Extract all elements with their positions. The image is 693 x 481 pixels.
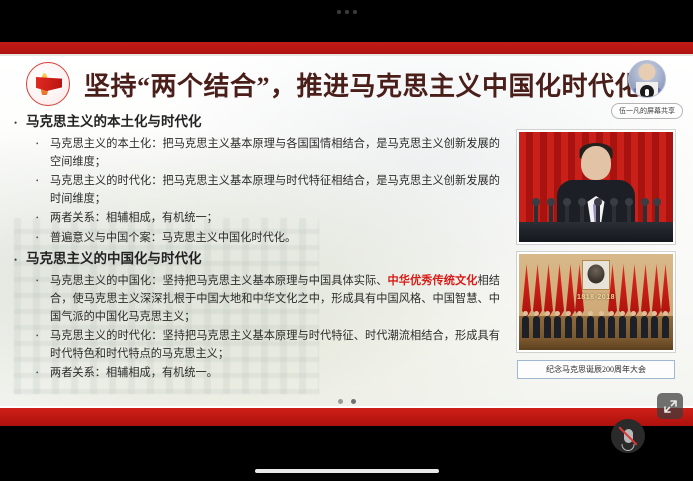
status-dot xyxy=(337,10,341,14)
slide-bottom-band xyxy=(0,408,693,426)
bullet-dot: • xyxy=(36,229,50,242)
share-owner-badge: 伍一凡的屏幕共享 xyxy=(611,103,683,119)
home-indicator[interactable] xyxy=(255,469,439,473)
bullet-dot: • xyxy=(36,272,50,285)
marx-portrait xyxy=(582,260,610,290)
list-item: • 马克思主义的时代化：坚持把马克思主义基本原理与时代特征、时代潮流相结合，形成… xyxy=(36,327,500,363)
list-item-text: 两者关系：相辅相成，有机统一； xyxy=(50,209,218,227)
list-item: • 马克思主义的本土化：把马克思主义基本原理与各国国情相结合，是马克思主义创新发… xyxy=(36,135,500,171)
slide-top-band xyxy=(0,42,693,54)
slide-page-indicator[interactable] xyxy=(338,399,356,404)
screen-share-viewport[interactable]: 坚持“两个结合”，推进马克思主义中国化时代化 伍一凡的屏幕共享 • 马克思主义的… xyxy=(0,42,693,426)
bullet-dot: • xyxy=(36,327,50,340)
list-item-text: 普遍意义与中国个案：马克思主义中国化时代化。 xyxy=(50,229,296,247)
section-bullets: • 马克思主义的中国化：坚持把马克思主义基本原理与中国具体实际、中华优秀传统文化… xyxy=(36,272,500,383)
bullet-dot: • xyxy=(36,135,50,148)
section-heading: • 马克思主义的中国化与时代化 xyxy=(14,249,500,270)
avatar-mic-icon xyxy=(640,85,654,98)
page-dot-1[interactable] xyxy=(338,399,343,404)
highlighted-term: 中华优秀传统文化 xyxy=(388,275,478,287)
photo-speaker-at-podium xyxy=(517,130,675,244)
avatar[interactable] xyxy=(628,60,666,98)
bullet-dot: • xyxy=(36,209,50,222)
expand-icon xyxy=(663,399,678,414)
expand-button[interactable] xyxy=(657,393,683,419)
list-item: • 普遍意义与中国个案：马克思主义中国化时代化。 xyxy=(36,229,500,247)
section-bullets: • 马克思主义的本土化：把马克思主义基本原理与各国国情相结合，是马克思主义创新发… xyxy=(36,135,500,247)
speaker-head xyxy=(581,146,611,180)
list-item-text: 马克思主义的本土化：把马克思主义基本原理与各国国情相结合，是马克思主义创新发展的… xyxy=(50,135,500,171)
bullet-dot: • xyxy=(36,364,50,377)
slide-body: • 马克思主义的本土化与时代化 • 马克思主义的本土化：把马克思主义基本原理与各… xyxy=(14,112,500,385)
bullet-dot: • xyxy=(36,172,50,185)
anniversary-years: 1818-2018 xyxy=(577,294,615,301)
section-heading: • 马克思主义的本土化与时代化 xyxy=(14,112,500,133)
list-item-text: 两者关系：相辅相成，有机统一。 xyxy=(50,364,218,382)
podium xyxy=(519,222,673,242)
photo-marx-bicentenary-congress: 1818-2018 xyxy=(517,252,675,352)
photo-stack: 1818-2018 纪念马克思诞辰200周年大会 xyxy=(517,130,675,379)
bullet-dot: • xyxy=(14,112,26,128)
list-item-text: 马克思主义的时代化：把马克思主义基本原理与时代特征相结合，是马克思主义创新发展的… xyxy=(50,172,500,208)
mic-bar xyxy=(645,89,649,96)
microphone-row xyxy=(531,200,660,224)
list-item: • 马克思主义的中国化：坚持把马克思主义基本原理与中国具体实际、中华优秀传统文化… xyxy=(36,272,500,326)
list-item: • 两者关系：相辅相成，有机统一； xyxy=(36,209,500,227)
party-emblem-icon xyxy=(26,62,70,106)
section-heading-text: 马克思主义的本土化与时代化 xyxy=(26,112,202,133)
list-item: • 两者关系：相辅相成，有机统一。 xyxy=(36,364,500,382)
microphone-stand xyxy=(622,444,635,451)
phone-screen: 坚持“两个结合”，推进马克思主义中国化时代化 伍一凡的屏幕共享 • 马克思主义的… xyxy=(0,0,693,481)
mute-microphone-button[interactable] xyxy=(611,419,645,453)
slide-header: 坚持“两个结合”，推进马克思主义中国化时代化 xyxy=(0,60,693,108)
red-flags-left xyxy=(522,260,584,318)
list-item: • 马克思主义的时代化：把马克思主义基本原理与时代特征相结合，是马克思主义创新发… xyxy=(36,172,500,208)
share-owner[interactable]: 伍一凡的屏幕共享 xyxy=(609,60,685,119)
avatar-face xyxy=(639,63,656,80)
conference-table xyxy=(519,338,673,350)
page-dot-2[interactable] xyxy=(351,399,356,404)
section-heading-text: 马克思主义的中国化与时代化 xyxy=(26,249,202,270)
status-bar xyxy=(0,0,693,23)
list-item-text: 马克思主义的中国化：坚持把马克思主义基本原理与中国具体实际、中华优秀传统文化相结… xyxy=(50,272,500,326)
flag-shape xyxy=(36,77,62,91)
red-flags-right xyxy=(608,260,670,318)
list-item-text: 马克思主义的时代化：坚持把马克思主义基本原理与时代特征、时代潮流相结合，形成具有… xyxy=(50,327,500,363)
status-dot xyxy=(353,10,357,14)
slide-title: 坚持“两个结合”，推进马克思主义中国化时代化 xyxy=(84,66,641,103)
status-dot xyxy=(345,10,349,14)
photo-caption: 纪念马克思诞辰200周年大会 xyxy=(517,360,675,379)
bullet-dot: • xyxy=(14,249,26,265)
delegates-row xyxy=(519,312,673,338)
